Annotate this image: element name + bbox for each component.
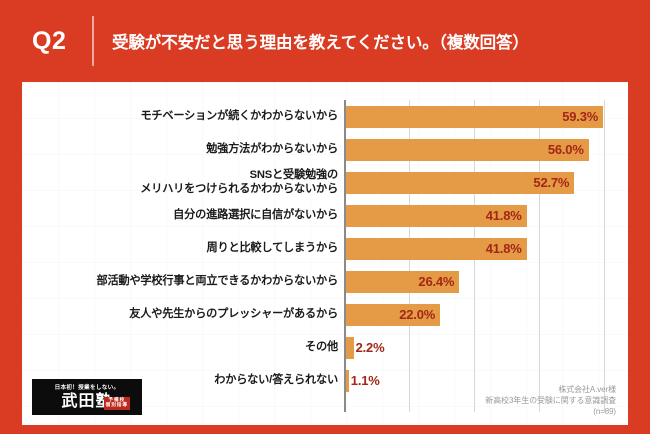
bar-value-label: 56.0%	[548, 142, 589, 157]
credits-client: 株式会社A.ver様	[485, 384, 616, 395]
credits-block: 株式会社A.ver様 新高校3年生の受験に関する意識調査 (n=89)	[485, 384, 616, 417]
chart-row: 勉強方法がわからないから56.0%	[22, 133, 628, 166]
bar-track: 52.7%	[344, 172, 628, 194]
bar-value-label: 1.1%	[349, 373, 380, 388]
category-label: 部活動や学校行事と両立できるかわからないから	[38, 265, 338, 298]
question-number: Q2	[32, 27, 88, 56]
bar: 59.3%	[344, 106, 603, 128]
category-label-line: わからない/答えられない	[214, 374, 338, 388]
bar: 41.8%	[344, 205, 527, 227]
category-label-line: 周りと比較してしまうから	[206, 242, 338, 256]
category-label: モチベーションが続くかわからないから	[38, 100, 338, 133]
bar-track: 59.3%	[344, 106, 628, 128]
bar-value-label: 22.0%	[399, 307, 440, 322]
category-label-line: その他	[305, 341, 338, 355]
category-label: SNSと受験勉強のメリハリをつけられるかわからないから	[38, 166, 338, 199]
question-title: 受験が不安だと思う理由を教えてください。（複数回答）	[112, 29, 529, 53]
credits-sample-size: (n=89)	[485, 406, 616, 417]
bar-value-label: 52.7%	[533, 175, 574, 190]
category-label-line: 勉強方法がわからないから	[206, 143, 338, 157]
bar-chart: モチベーションが続くかわからないから59.3%勉強方法がわからないから56.0%…	[22, 82, 628, 425]
bar-track: 41.8%	[344, 205, 628, 227]
category-label: その他	[38, 331, 338, 364]
takeda-juku-logo: 日本初！授業をしない。 武田塾 予備校 個別指導	[32, 379, 142, 415]
bar-value-label: 2.2%	[354, 340, 385, 355]
category-label: 周りと比較してしまうから	[38, 232, 338, 265]
logo-stamp: 予備校 個別指導	[104, 397, 129, 409]
chart-row: 部活動や学校行事と両立できるかわからないから26.4%	[22, 265, 628, 298]
bar: 52.7%	[344, 172, 574, 194]
chart-row: 友人や先生からのプレッシャーがあるから22.0%	[22, 298, 628, 331]
chart-rows: モチベーションが続くかわからないから59.3%勉強方法がわからないから56.0%…	[22, 100, 628, 397]
category-label: 自分の進路選択に自信がないから	[38, 199, 338, 232]
bar: 22.0%	[344, 304, 440, 326]
category-label-line: 友人や先生からのプレッシャーがあるから	[129, 308, 338, 322]
category-label-line: SNSと受験勉強の	[250, 169, 338, 183]
category-label: 友人や先生からのプレッシャーがあるから	[38, 298, 338, 331]
category-label: 勉強方法がわからないから	[38, 133, 338, 166]
survey-slide: Q2 受験が不安だと思う理由を教えてください。（複数回答） モチベーションが続く…	[0, 0, 650, 434]
slide-header: Q2 受験が不安だと思う理由を教えてください。（複数回答）	[0, 0, 650, 82]
bar-value-label: 41.8%	[486, 241, 527, 256]
bar-value-label: 41.8%	[486, 208, 527, 223]
bar: 41.8%	[344, 238, 527, 260]
chart-row: その他2.2%	[22, 331, 628, 364]
bar-value-label: 59.3%	[562, 109, 603, 124]
chart-row: 自分の進路選択に自信がないから41.8%	[22, 199, 628, 232]
bar: 56.0%	[344, 139, 589, 161]
chart-row: 周りと比較してしまうから41.8%	[22, 232, 628, 265]
credits-survey-name: 新高校3年生の受験に関する意識調査	[485, 395, 616, 406]
bar-track: 2.2%	[344, 337, 628, 359]
chart-card: モチベーションが続くかわからないから59.3%勉強方法がわからないから56.0%…	[22, 82, 628, 425]
bar-track: 41.8%	[344, 238, 628, 260]
bar-track: 26.4%	[344, 271, 628, 293]
category-label-line: メリハリをつけられるかわからないから	[140, 183, 338, 197]
value-axis-line	[344, 100, 346, 412]
bar: 26.4%	[344, 271, 459, 293]
header-divider	[92, 16, 94, 66]
category-label-line: 部活動や学校行事と両立できるかわからないから	[96, 275, 338, 289]
bar-value-label: 26.4%	[418, 274, 459, 289]
chart-row: モチベーションが続くかわからないから59.3%	[22, 100, 628, 133]
bar-track: 22.0%	[344, 304, 628, 326]
chart-row: SNSと受験勉強のメリハリをつけられるかわからないから52.7%	[22, 166, 628, 199]
category-label-line: 自分の進路選択に自信がないから	[173, 209, 338, 223]
bar-track: 56.0%	[344, 139, 628, 161]
category-label-line: モチベーションが続くかわからないから	[140, 110, 338, 124]
logo-name: 武田塾 予備校 個別指導	[61, 392, 112, 410]
